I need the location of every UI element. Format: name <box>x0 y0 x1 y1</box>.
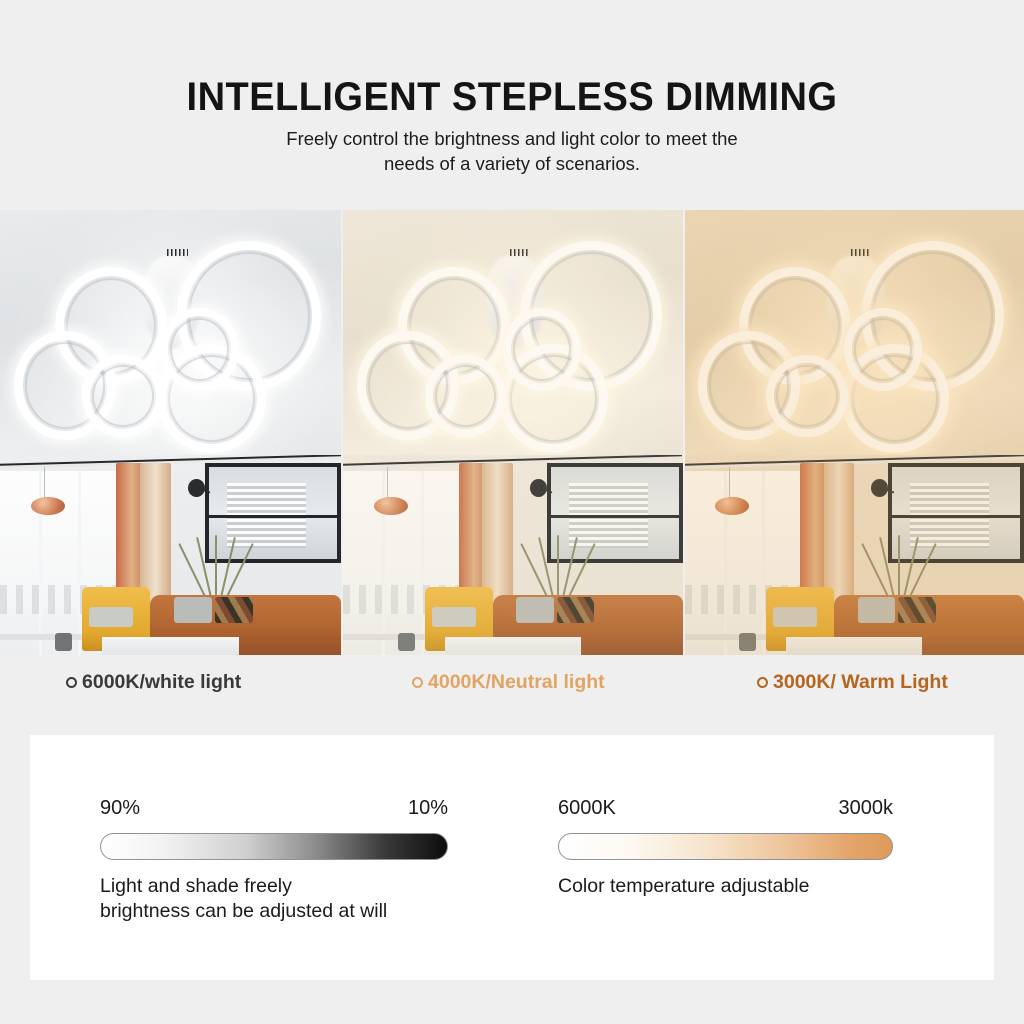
brightness-caption: Light and shade freely brightness can be… <box>100 874 448 924</box>
brightness-slider-block: 90% 10% Light and shade freely brightnes… <box>100 797 448 924</box>
circle-outline-icon <box>412 677 423 688</box>
subtitle-line-2: needs of a variety of scenarios. <box>0 151 1024 176</box>
circle-outline-icon <box>66 677 77 688</box>
chandelier-ring <box>503 308 581 391</box>
temperature-scale-labels: 6000K 3000k <box>558 797 893 825</box>
pendant-cord <box>44 467 45 499</box>
pendant-cord <box>387 467 388 499</box>
ring-chandelier <box>685 210 1024 468</box>
cushion <box>516 597 553 623</box>
patterned-cushion <box>557 597 594 623</box>
temperature-slider-block: 6000K 3000k Color temperature adjustable <box>558 797 893 899</box>
temperature-low-label: 6000K <box>558 797 616 820</box>
chair-cushion <box>432 607 476 627</box>
wall-clock-icon <box>530 479 547 497</box>
copper-pendant-lamp <box>715 497 749 515</box>
patterned-cushion <box>898 597 935 623</box>
copper-pendant-lamp <box>31 497 65 515</box>
room-photo-neutral-light <box>341 210 682 655</box>
brightness-scale-labels: 90% 10% <box>100 797 448 825</box>
cushion <box>858 597 895 623</box>
chair-cushion <box>89 607 133 627</box>
sliders-card: 90% 10% Light and shade freely brightnes… <box>30 735 994 980</box>
lamp-vents-icon <box>510 249 530 257</box>
brightness-slider[interactable] <box>100 833 448 860</box>
circle-outline-icon <box>757 677 768 688</box>
chandelier-ring <box>766 355 847 438</box>
subtitle-line-1: Freely control the brightness and light … <box>0 126 1024 151</box>
brightness-low-label: 90% <box>100 797 140 820</box>
bed-foreground <box>786 637 922 655</box>
wall-clock-icon <box>188 479 205 497</box>
infographic-page: INTELLIGENT STEPLESS DIMMING Freely cont… <box>0 0 1024 1024</box>
label-3000k: 3000K/ Warm Light <box>757 671 948 694</box>
brightness-high-label: 10% <box>408 797 448 820</box>
label-6000k: 6000K/white light <box>66 671 241 694</box>
temperature-caption-line-1: Color temperature adjustable <box>558 874 893 899</box>
brightness-caption-line-1: Light and shade freely <box>100 874 448 899</box>
brightness-caption-line-2: brightness can be adjusted at will <box>100 899 448 924</box>
floor-vase <box>398 633 415 651</box>
photo-strip <box>0 210 1024 655</box>
wall-clock-icon <box>871 479 888 497</box>
header-section: INTELLIGENT STEPLESS DIMMING Freely cont… <box>0 0 1024 210</box>
chandelier-ring <box>425 355 506 438</box>
color-temperature-labels: 6000K/white light 4000K/Neutral light 30… <box>0 655 1024 715</box>
lamp-vents-icon <box>851 249 871 257</box>
ring-chandelier <box>343 210 682 468</box>
temperature-high-label: 3000k <box>839 797 894 820</box>
copper-pendant-lamp <box>374 497 408 515</box>
cushion <box>174 597 212 623</box>
label-4000k: 4000K/Neutral light <box>412 671 605 694</box>
bed-foreground <box>445 637 581 655</box>
lamp-vents-icon <box>167 249 187 257</box>
room-interior <box>343 455 682 655</box>
chandelier-ring <box>82 355 164 438</box>
room-interior <box>0 455 341 655</box>
room-photo-white-light <box>0 210 341 655</box>
pendant-cord <box>729 467 730 499</box>
floor-vase <box>55 633 72 651</box>
temperature-slider[interactable] <box>558 833 893 860</box>
temperature-caption: Color temperature adjustable <box>558 874 893 899</box>
floor-vase <box>739 633 756 651</box>
bed-foreground <box>102 637 239 655</box>
page-title: INTELLIGENT STEPLESS DIMMING <box>26 74 999 120</box>
room-photo-warm-light <box>683 210 1024 655</box>
chandelier-ring <box>844 308 922 391</box>
chair-cushion <box>773 607 817 627</box>
label-3000k-text: 3000K/ Warm Light <box>773 671 948 694</box>
label-6000k-text: 6000K/white light <box>82 671 241 694</box>
label-4000k-text: 4000K/Neutral light <box>428 671 605 694</box>
page-subtitle: Freely control the brightness and light … <box>0 126 1024 176</box>
patterned-cushion <box>215 597 253 623</box>
ring-chandelier <box>0 210 341 468</box>
chandelier-ring <box>160 308 239 391</box>
room-interior <box>685 455 1024 655</box>
